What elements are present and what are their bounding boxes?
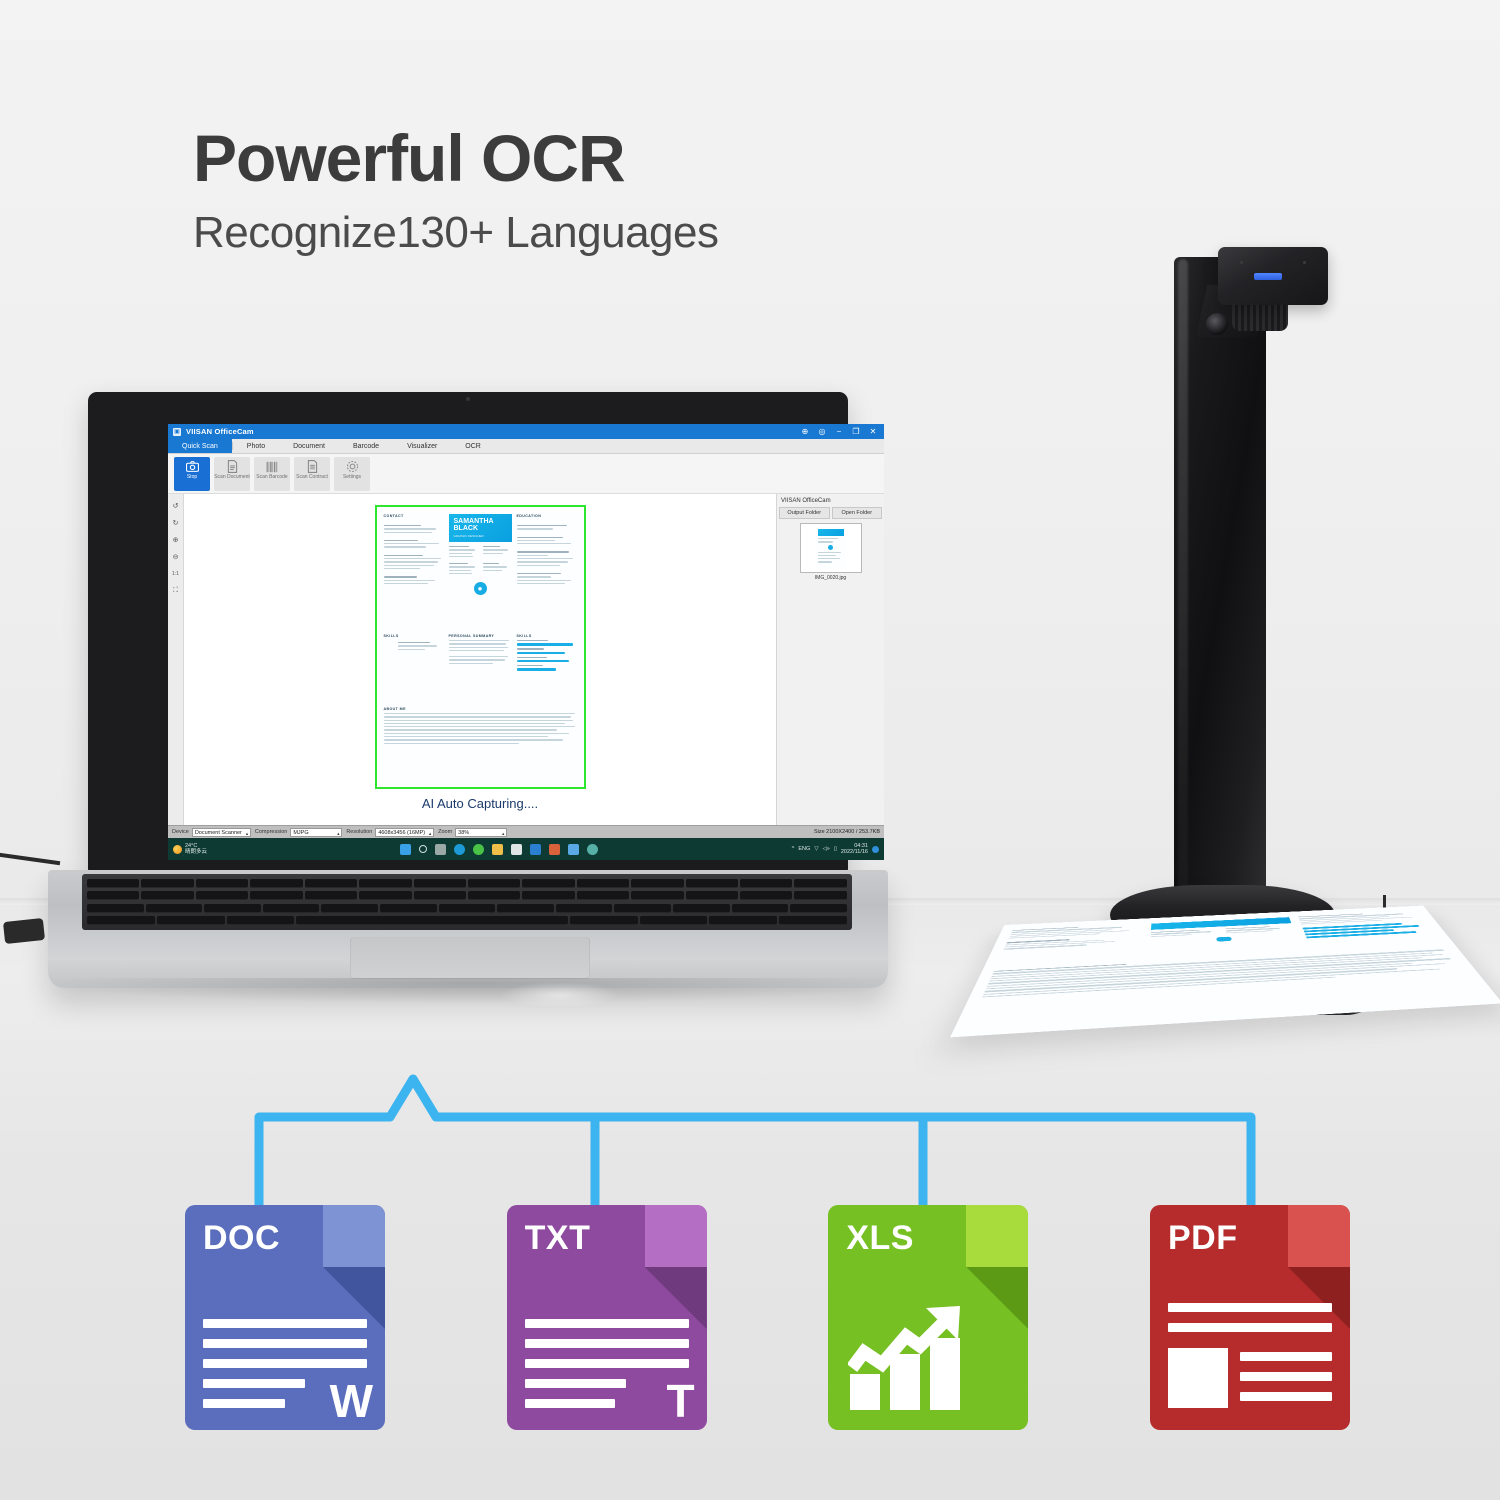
gear-icon [345, 460, 359, 473]
system-tray: ^ ENG ▽ ◁» ▯ 04:31 2022/11/16 [792, 843, 879, 855]
txt-label: TXT [525, 1219, 591, 1258]
sun-icon [173, 845, 182, 854]
wifi-icon[interactable]: ▽ [814, 846, 818, 852]
section-skills: SKILLS [517, 634, 577, 638]
page-subtitle: Recognize130+ Languages [193, 208, 719, 258]
mail-icon[interactable] [530, 844, 541, 855]
start-icon[interactable] [400, 844, 411, 855]
compression-group: Compression MJPG [255, 828, 342, 837]
laptop: ▣ VIISAN OfficeCam ⊕ ◎ − ❐ ✕ Quick Scan … [30, 392, 900, 1042]
contact-block-4 [384, 576, 444, 586]
output-panel-title: VIISAN OfficeCam [779, 496, 882, 507]
window-titlebar: ▣ VIISAN OfficeCam ⊕ ◎ − ❐ ✕ [168, 424, 884, 439]
compression-label: Compression [255, 829, 287, 835]
thumbnail-list: IMG_0020.jpg [779, 523, 882, 581]
connector-top-path [259, 1079, 1251, 1205]
tab-document[interactable]: Document [279, 439, 339, 453]
paper-center-col [1150, 917, 1301, 958]
minimize-button[interactable]: − [833, 427, 845, 436]
section-summary: PERSONAL SUMMARY [449, 634, 512, 638]
work-area: ↺ ↻ ⊕ ⊖ 1:1 ⛶ [168, 494, 884, 825]
scanner-column-highlight [1178, 259, 1188, 893]
resume-detail-c [449, 563, 478, 576]
section-about: ABOUT ME [384, 707, 577, 711]
xls-label: XLS [846, 1219, 914, 1258]
scan-document-button[interactable]: Scan Document [214, 457, 250, 491]
keyboard-row [87, 879, 847, 888]
section-services: SKILLS [384, 634, 444, 638]
scanned-page[interactable]: CONTACT [378, 508, 583, 786]
resume-name-line2: BLACK [454, 525, 507, 532]
resume-name-line1: SAMANTHA [454, 518, 507, 525]
thumbnail-filename: IMG_0020.jpg [815, 575, 846, 581]
resume-role: GRAPHIC DESIGNER [454, 534, 507, 538]
zoom-group: Zoom 38% [438, 828, 507, 837]
txt-fold-light [645, 1205, 707, 1267]
resume-document: CONTACT [378, 508, 583, 786]
tab-photo[interactable]: Photo [233, 439, 279, 453]
resume-right-column: EDUCATION [517, 514, 577, 626]
doc-fold-light [323, 1205, 385, 1267]
window-title: VIISAN OfficeCam [186, 427, 254, 436]
zoom-out-icon[interactable]: ⊖ [170, 551, 181, 562]
resume-skills: SKILLS [517, 634, 577, 700]
paper-left-col [996, 924, 1142, 966]
document-scanner-device: VIISAN [1110, 235, 1340, 925]
rotate-left-icon[interactable]: ↺ [170, 500, 181, 511]
chrome-icon[interactable] [473, 844, 484, 855]
output-panel-buttons: Output Folder Open Folder [779, 507, 882, 519]
contact-block-3 [384, 555, 444, 571]
rotate-right-icon[interactable]: ↻ [170, 517, 181, 528]
pdf-image-block [1168, 1348, 1228, 1408]
weather-desc: 晴朗多云 [185, 849, 207, 855]
zoom-in-icon[interactable]: ⊕ [170, 534, 181, 545]
thumbnail-item[interactable] [800, 523, 862, 573]
tab-barcode[interactable]: Barcode [339, 439, 393, 453]
education-block-4 [517, 573, 577, 586]
language-indicator[interactable]: ENG [798, 846, 810, 852]
capture-status-text: AI Auto Capturing.... [184, 796, 776, 811]
globe-icon[interactable]: ⊕ [799, 427, 811, 436]
xls-file-icon[interactable]: XLS [828, 1205, 1028, 1430]
webcam-icon [466, 397, 470, 401]
tray-chevron-icon[interactable]: ^ [792, 846, 795, 852]
laptop-shadow [40, 978, 910, 1004]
notification-icon[interactable] [872, 846, 879, 853]
help-icon[interactable]: ◎ [816, 427, 828, 436]
sensor-dot-right [1303, 261, 1306, 264]
pdf-fold-light [1288, 1205, 1350, 1267]
settings-button[interactable]: Settings [334, 457, 370, 491]
laptop-keyboard[interactable] [82, 874, 852, 930]
keyboard-row [87, 916, 847, 925]
resume-left-column: CONTACT [384, 514, 444, 626]
help-app-icon[interactable] [587, 844, 598, 855]
stop-button-label: Stop [187, 475, 197, 481]
usb-dongle [3, 918, 45, 944]
status-bar: Device Document Scanner Compression MJPG… [168, 825, 884, 838]
size-readout: Size 2100X2400 / 253.7KB [814, 829, 880, 835]
officecam-application: ▣ VIISAN OfficeCam ⊕ ◎ − ❐ ✕ Quick Scan … [168, 424, 884, 860]
resume-detail-d [483, 563, 512, 576]
office-icon[interactable] [549, 844, 560, 855]
education-block-3 [517, 551, 577, 567]
doc-word-letter: W [330, 1378, 373, 1424]
scan-barcode-label: Scan Barcode [256, 475, 287, 481]
pdf-label: PDF [1168, 1219, 1238, 1258]
close-button[interactable]: ✕ [867, 427, 879, 436]
output-format-icons: DOC W TXT T XLS [185, 1205, 1350, 1435]
main-toolbar: Stop Scan Document Scan Barcode [168, 454, 884, 494]
taskbar-apps [207, 844, 792, 855]
settings-label: Settings [343, 475, 361, 481]
page-title: Powerful OCR [193, 120, 625, 196]
tab-bar: Quick Scan Photo Document Barcode Visual… [168, 439, 884, 454]
resume-center-column: SAMANTHA BLACK GRAPHIC DESIGNER [449, 514, 512, 626]
laptop-trackpad[interactable] [350, 937, 590, 979]
resume-name-banner: SAMANTHA BLACK GRAPHIC DESIGNER [449, 514, 512, 542]
clock-date[interactable]: 2022/11/16 [841, 849, 868, 855]
document-icon [225, 460, 239, 473]
sensor-dot-left [1240, 261, 1243, 264]
windows-taskbar: 24°C 晴朗多云 [168, 838, 884, 860]
weather-widget[interactable]: 24°C 晴朗多云 [173, 843, 207, 855]
zoom-select[interactable]: 38% [455, 828, 507, 837]
resolution-select[interactable]: 4608x3456 (16MP) [375, 828, 434, 837]
education-block-2 [517, 537, 577, 547]
connector-svg [250, 1070, 1260, 1210]
officecam-icon[interactable] [568, 844, 579, 855]
camera-lens-icon [1206, 313, 1228, 335]
resume-services: SKILLS [384, 634, 444, 700]
section-education: EDUCATION [517, 514, 577, 518]
battery-icon[interactable]: ▯ [834, 846, 837, 852]
contact-block-2 [384, 540, 444, 550]
volume-icon[interactable]: ◁» [823, 846, 830, 852]
store-icon[interactable] [511, 844, 522, 855]
paper-right-col [1298, 911, 1443, 950]
tab-visualizer[interactable]: Visualizer [393, 439, 451, 453]
avatar: ● [474, 582, 487, 595]
pdf-file-icon[interactable]: PDF [1150, 1205, 1350, 1430]
doc-label: DOC [203, 1219, 280, 1258]
search-icon[interactable] [419, 845, 427, 853]
section-contact: CONTACT [384, 514, 444, 518]
scan-contract-button[interactable]: Scan Contract [294, 457, 330, 491]
actual-size-icon[interactable]: 1:1 [170, 568, 181, 579]
xls-fold-light [966, 1205, 1028, 1267]
edge-icon[interactable] [454, 844, 465, 855]
doc-file-icon[interactable]: DOC W [185, 1205, 385, 1430]
thumbnail-preview [816, 527, 846, 569]
flow-connector [250, 1070, 1260, 1210]
scan-contract-label: Scan Contract [296, 475, 328, 481]
fit-to-window-icon[interactable]: ⛶ [170, 585, 181, 596]
pdf-content [1168, 1303, 1332, 1408]
resolution-label: Resolution [346, 829, 372, 835]
preview-canvas[interactable]: CONTACT [184, 494, 776, 825]
bar-chart-icon [848, 1302, 988, 1412]
barcode-icon [265, 460, 279, 473]
contract-icon [305, 460, 319, 473]
resume-detail-a [449, 546, 478, 559]
camera-icon [185, 460, 199, 473]
device-group: Device Document Scanner [172, 828, 251, 837]
stop-button[interactable]: Stop [174, 457, 210, 491]
maximize-button[interactable]: ❐ [850, 427, 862, 436]
laptop-screen: ▣ VIISAN OfficeCam ⊕ ◎ − ❐ ✕ Quick Scan … [168, 424, 884, 860]
open-folder-button[interactable]: Open Folder [832, 507, 883, 519]
app-logo-icon: ▣ [173, 428, 181, 436]
device-select[interactable]: Document Scanner [192, 828, 251, 837]
zoom-label: Zoom [438, 829, 452, 835]
education-block-1 [517, 525, 577, 532]
output-folder-button[interactable]: Output Folder [779, 507, 830, 519]
status-led-icon [1254, 273, 1282, 280]
txt-lines [525, 1319, 689, 1408]
resume-summary: PERSONAL SUMMARY [449, 634, 512, 700]
device-label: Device [172, 829, 189, 835]
tab-ocr[interactable]: OCR [451, 439, 495, 453]
resolution-group: Resolution 4608x3456 (16MP) [346, 828, 434, 837]
resume-detail-b [483, 546, 512, 559]
explorer-icon[interactable] [492, 844, 503, 855]
output-panel: VIISAN OfficeCam Output Folder Open Fold… [776, 494, 884, 825]
scanner-head [1218, 247, 1328, 305]
compression-select[interactable]: MJPG [290, 828, 342, 837]
view-tool-strip: ↺ ↻ ⊕ ⊖ 1:1 ⛶ [168, 494, 184, 825]
contact-block [384, 525, 444, 535]
canvas-inner: CONTACT [184, 494, 776, 825]
keyboard-row [87, 904, 847, 913]
txt-file-icon[interactable]: TXT T [507, 1205, 707, 1430]
tab-quick-scan[interactable]: Quick Scan [168, 439, 232, 453]
resume-about: ABOUT ME [384, 707, 577, 746]
txt-text-letter: T [667, 1378, 695, 1424]
keyboard-row [87, 891, 847, 900]
scan-barcode-button[interactable]: Scan Barcode [254, 457, 290, 491]
scan-document-label: Scan Document [214, 475, 250, 481]
laptop-lid: ▣ VIISAN OfficeCam ⊕ ◎ − ❐ ✕ Quick Scan … [88, 392, 848, 872]
task-view-icon[interactable] [435, 844, 446, 855]
